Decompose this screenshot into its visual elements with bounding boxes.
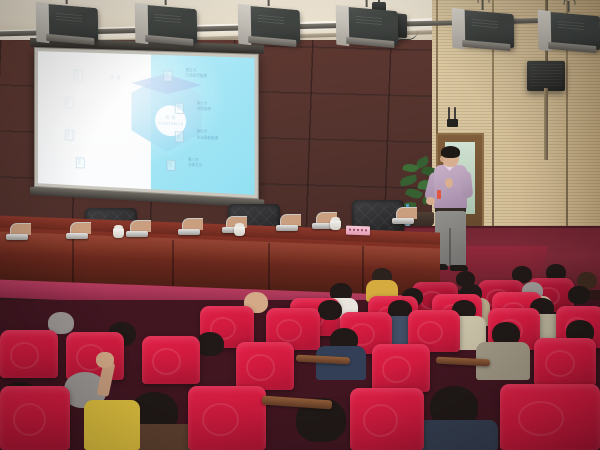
desk-seam-4 — [362, 246, 364, 296]
conference-hall-photo: 目 录 目 录 CONTENTS 第五节 行政处罚管理 — [0, 0, 600, 450]
audience-seat-e3[interactable] — [350, 388, 424, 450]
wall-speaker — [527, 61, 565, 91]
wall-bracket-fixture — [448, 105, 462, 127]
stage-light-6 — [538, 9, 600, 50]
slide-title: 目 录 — [110, 75, 121, 81]
presenter-ear — [440, 156, 444, 162]
slide-label-right-2: 第六节 流程管理 — [197, 101, 211, 112]
audience-seat-d1[interactable] — [0, 330, 58, 378]
teacup-2 — [234, 226, 245, 236]
desk-seam-1 — [72, 238, 74, 288]
speaker-pole-lower — [544, 88, 548, 160]
teacup-3 — [330, 220, 341, 230]
audience-seat-d5[interactable] — [372, 344, 430, 392]
audience-seat-e2[interactable] — [188, 386, 266, 450]
desk-namecard — [346, 226, 370, 236]
desk-seam-3 — [268, 243, 270, 293]
slide-doc-icon-right-3 — [175, 131, 184, 143]
slide-label-right-1: 第五节 行政处罚管理 — [186, 68, 207, 80]
stage-light-5 — [452, 7, 515, 48]
stage-light-2 — [135, 2, 198, 43]
audience-seat-d4[interactable] — [236, 342, 294, 390]
audience-seat-e4[interactable] — [500, 384, 600, 450]
slide-doc-icon-left-4 — [76, 157, 85, 169]
slide-content: 目 录 目 录 CONTENTS 第五节 行政处罚管理 — [38, 51, 255, 195]
audience-head-b5 — [568, 286, 590, 304]
presenter-hair — [441, 146, 460, 158]
microphone-3[interactable] — [126, 219, 156, 237]
slide-center-text-line2: CONTENTS — [158, 120, 184, 127]
presenter-right-hand — [445, 178, 453, 188]
slide-doc-icon-left-1 — [74, 69, 83, 80]
microphone-6[interactable] — [276, 213, 306, 231]
slide-doc-icon-right-2 — [175, 103, 184, 115]
audience-seat-d3[interactable] — [142, 336, 200, 384]
slide-doc-icon-left-3 — [65, 129, 74, 140]
stage-light-4 — [336, 4, 399, 45]
presenter-leg-seam — [449, 228, 451, 266]
microphone-4[interactable] — [178, 217, 208, 235]
audience-torso-e5 — [412, 420, 498, 450]
teacup-1 — [113, 228, 124, 238]
slide-doc-icon-right-1 — [164, 70, 173, 82]
microphone-2[interactable] — [66, 221, 96, 239]
projection-screen: 目 录 目 录 CONTENTS 第五节 行政处罚管理 — [34, 47, 259, 199]
audience-head-c2 — [318, 300, 342, 320]
stage-light-3 — [238, 3, 301, 44]
slide-label-right-4: 第八节 法律文书 — [188, 157, 202, 169]
slide-doc-icon-left-2 — [65, 97, 74, 108]
presenter-badge — [437, 190, 441, 199]
microphone-8[interactable] — [392, 206, 422, 224]
audience-raised-hand — [96, 352, 114, 368]
stage-light-1 — [36, 1, 99, 42]
slide-doc-icon-right-4 — [166, 159, 175, 171]
presenter-left-hand — [426, 197, 435, 205]
slide-label-right-3: 第七节 执法案卷管理 — [197, 129, 218, 141]
audience-head-d3 — [196, 332, 224, 356]
screen-frame: 目 录 目 录 CONTENTS 第五节 行政处罚管理 — [34, 47, 259, 199]
audience-seat-e1[interactable] — [0, 386, 70, 450]
presenter-right-arm — [460, 170, 474, 198]
microphone-1[interactable] — [6, 222, 36, 240]
speaker-grille — [530, 64, 562, 88]
desk-seam-2 — [172, 240, 174, 290]
audience-seat-d6[interactable] — [534, 338, 596, 386]
audience-torso-e1 — [84, 400, 140, 450]
